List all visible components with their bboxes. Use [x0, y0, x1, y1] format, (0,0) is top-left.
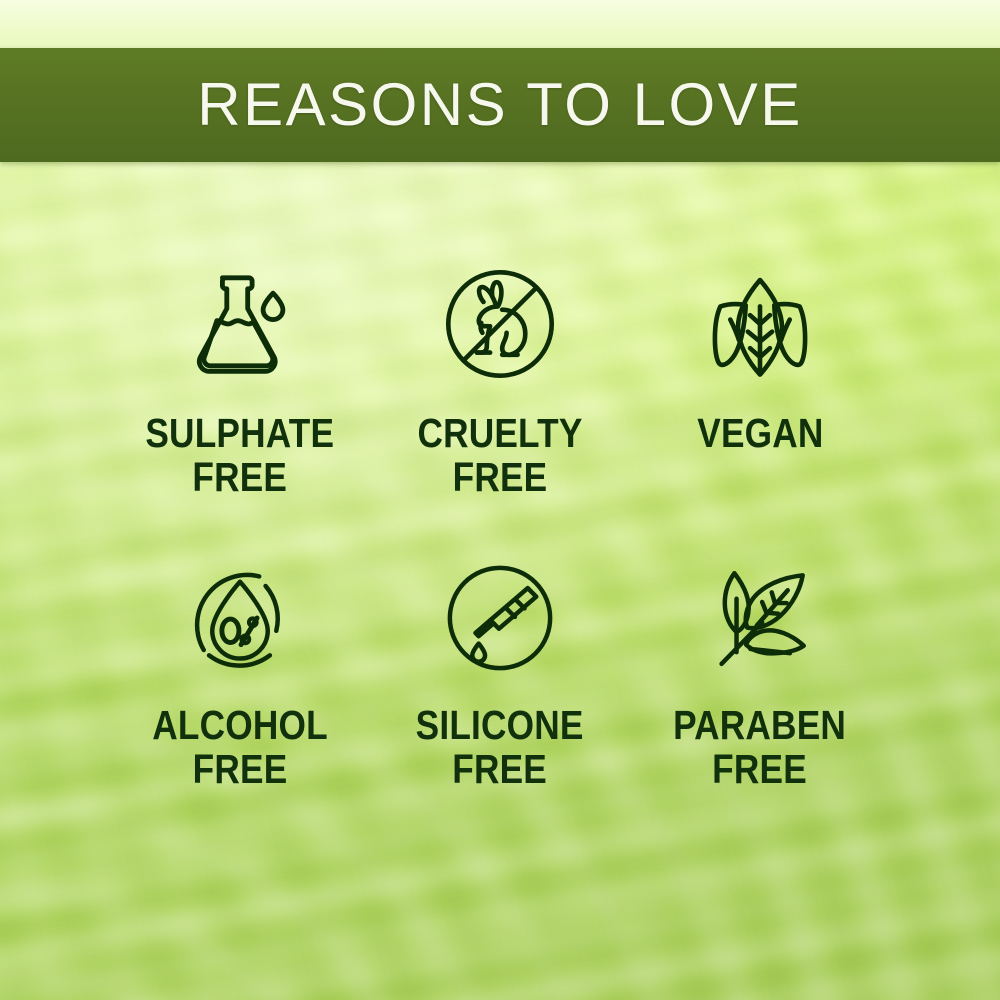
- badge-label: VEGAN: [697, 412, 823, 456]
- page-title: REASONS TO LOVE: [197, 75, 802, 135]
- badge-label: SILICONE FREE: [416, 704, 584, 792]
- badge-label: PARABEN FREE: [674, 704, 847, 792]
- zero-percent-droplet-icon: [176, 554, 304, 682]
- three-leaves-icon: [694, 258, 826, 390]
- background-top-wash: [0, 0, 1000, 52]
- badge-label: CRUELTY FREE: [417, 412, 582, 500]
- leaf-branch-icon: [696, 554, 824, 682]
- benefits-grid: SULPHATE FREE CRUELTY FRE: [110, 258, 890, 791]
- badge-silicone-free: SILICONE FREE: [370, 554, 630, 792]
- badge-paraben-free: PARABEN FREE: [630, 554, 890, 792]
- no-rabbit-icon: [434, 258, 566, 390]
- reasons-to-love-poster: REASONS TO LOVE SULPHATE FREE: [0, 0, 1000, 1000]
- badge-alcohol-free: ALCOHOL FREE: [110, 554, 370, 792]
- flask-droplet-icon: [174, 258, 306, 390]
- header-banner: REASONS TO LOVE: [0, 48, 1000, 162]
- badge-label: SULPHATE FREE: [146, 412, 335, 500]
- badge-label: ALCOHOL FREE: [152, 704, 328, 792]
- dropper-pipette-icon: [436, 554, 564, 682]
- badge-sulphate-free: SULPHATE FREE: [110, 258, 370, 500]
- badge-vegan: VEGAN: [630, 258, 890, 500]
- badge-cruelty-free: CRUELTY FREE: [370, 258, 630, 500]
